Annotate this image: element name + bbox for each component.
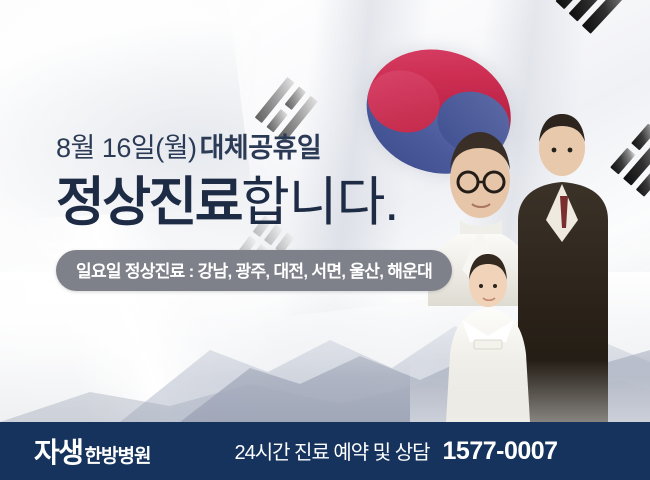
- headline-strong-text: 정상진료: [56, 173, 241, 232]
- holiday-notice-banner: 8월 16일(월)대체공휴일 정상진료합니다. 일요일 정상진료 : 강남, 광…: [0, 0, 650, 480]
- contact-label: 24시간 진료 예약 및 상담: [234, 436, 429, 465]
- footer-bar: 자생 한방병원 24시간 진료 예약 및 상담 1577-0007: [0, 422, 650, 480]
- logo-mark-text: 자생: [34, 431, 83, 471]
- jaseng-logo[interactable]: 자생 한방병원: [34, 431, 150, 471]
- contact-block[interactable]: 24시간 진료 예약 및 상담 1577-0007: [234, 436, 557, 466]
- holiday-label: 대체공휴일: [200, 133, 322, 163]
- date-line: 8월 16일(월)대체공휴일: [56, 132, 526, 166]
- phone-number[interactable]: 1577-0007: [443, 437, 558, 466]
- logo-name-text: 한방병원: [85, 441, 151, 468]
- headline-thin-text: 합니다.: [241, 173, 398, 232]
- sunday-clinic-badge: 일요일 정상진료 : 강남, 광주, 대전, 서면, 울산, 해운대: [56, 250, 452, 291]
- headline-block: 8월 16일(월)대체공휴일 정상진료합니다. 일요일 정상진료 : 강남, 광…: [56, 132, 526, 291]
- main-headline: 정상진료합니다.: [56, 173, 526, 232]
- date-text: 8월 16일(월): [56, 133, 197, 163]
